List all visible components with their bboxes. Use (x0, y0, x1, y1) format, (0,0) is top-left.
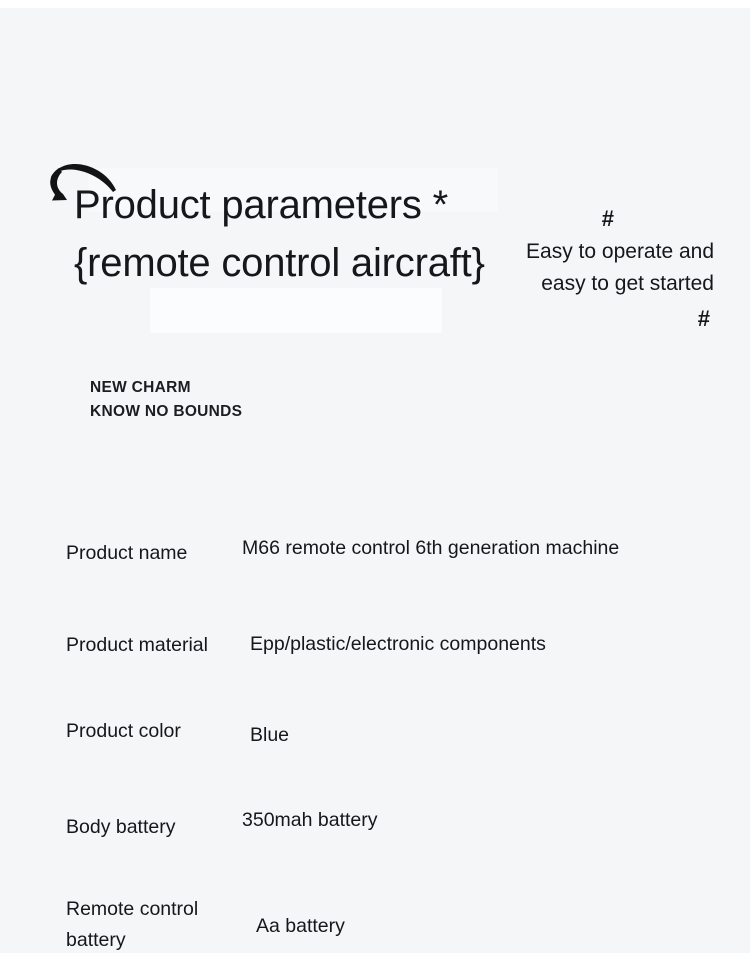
table-row: Body battery 350mah battery (0, 806, 750, 894)
product-parameters-page: Product parameters * {remote control air… (0, 0, 750, 953)
spec-value: 350mah battery (242, 806, 750, 835)
spec-label: Remote control battery (0, 894, 242, 953)
spec-value: Blue (242, 716, 750, 750)
promo-text: Easy to operate and easy to get started (494, 236, 714, 300)
promo-block: # Easy to operate and easy to get starte… (494, 208, 714, 330)
spec-label: Product material (0, 630, 242, 661)
page-title: Product parameters * {remote control air… (74, 176, 494, 292)
table-row: Product color Blue (0, 716, 750, 806)
brand-tagline-line-1: NEW CHARM (90, 376, 242, 400)
header-section: Product parameters * {remote control air… (0, 0, 750, 440)
spec-label: Product color (0, 716, 242, 747)
spec-value: Aa battery (242, 894, 750, 941)
hash-icon-top: # (494, 208, 614, 230)
brand-tagline-line-2: KNOW NO BOUNDS (90, 400, 242, 424)
spec-value: Epp/plastic/electronic components (242, 630, 750, 659)
spec-value: M66 remote control 6th generation machin… (242, 534, 750, 563)
brand-tagline: NEW CHARM KNOW NO BOUNDS (90, 376, 242, 424)
table-row: Remote control battery Aa battery (0, 894, 750, 953)
spec-label: Body battery (0, 806, 242, 843)
spec-label: Product name (0, 534, 242, 569)
specification-table: Product name M66 remote control 6th gene… (0, 440, 750, 953)
table-row: Product material Epp/plastic/electronic … (0, 624, 750, 716)
table-row: Product name M66 remote control 6th gene… (0, 440, 750, 624)
hash-icon-bottom: # (494, 308, 710, 330)
